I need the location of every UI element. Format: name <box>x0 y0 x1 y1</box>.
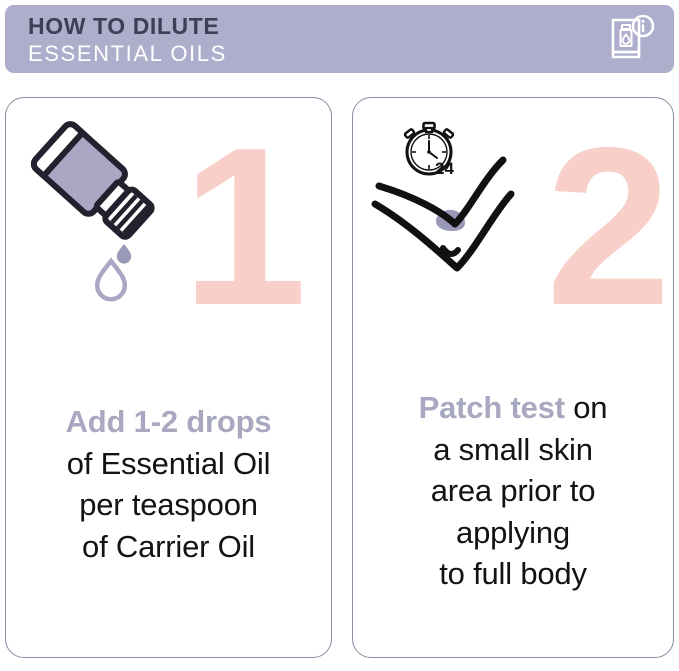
step-card-2-highlight: Patch test <box>419 390 565 425</box>
step-card-1-highlight: Add 1-2 drops <box>12 401 325 443</box>
step-card-1: 1 Add 1-2 drops of Essential O <box>5 97 332 658</box>
page-title: HOW TO DILUTE <box>28 13 227 40</box>
header-text-group: HOW TO DILUTE ESSENTIAL OILS <box>28 13 227 67</box>
step-card-2-highlight-suffix: on <box>565 390 608 425</box>
step-card-1-line-2: per teaspoon <box>12 484 325 526</box>
step-card-2-highlight-line: Patch test on <box>359 387 667 429</box>
bottle-label-info-icon <box>606 14 656 64</box>
step-card-2-line-3: applying <box>359 512 667 554</box>
step-card-1-text: Add 1-2 drops of Essential Oil per teasp… <box>6 401 331 567</box>
step-card-2-line-1: a small skin <box>359 429 667 471</box>
step-card-1-line-1: of Essential Oil <box>12 443 325 485</box>
step-card-2-line-4: to full body <box>359 553 667 595</box>
step-card-2-line-2: area prior to <box>359 470 667 512</box>
arm-patch-test-stopwatch-icon: 24 <box>353 98 673 308</box>
step-card-1-line-3: of Carrier Oil <box>12 526 325 568</box>
stopwatch-hours-label: 24 <box>435 159 454 178</box>
dropper-bottle-icon <box>6 98 331 308</box>
header-bar: HOW TO DILUTE ESSENTIAL OILS <box>5 5 674 73</box>
page-subtitle: ESSENTIAL OILS <box>28 40 227 67</box>
step-card-2: 2 <box>352 97 674 658</box>
step-card-2-text: Patch test on a small skin area prior to… <box>353 387 673 595</box>
